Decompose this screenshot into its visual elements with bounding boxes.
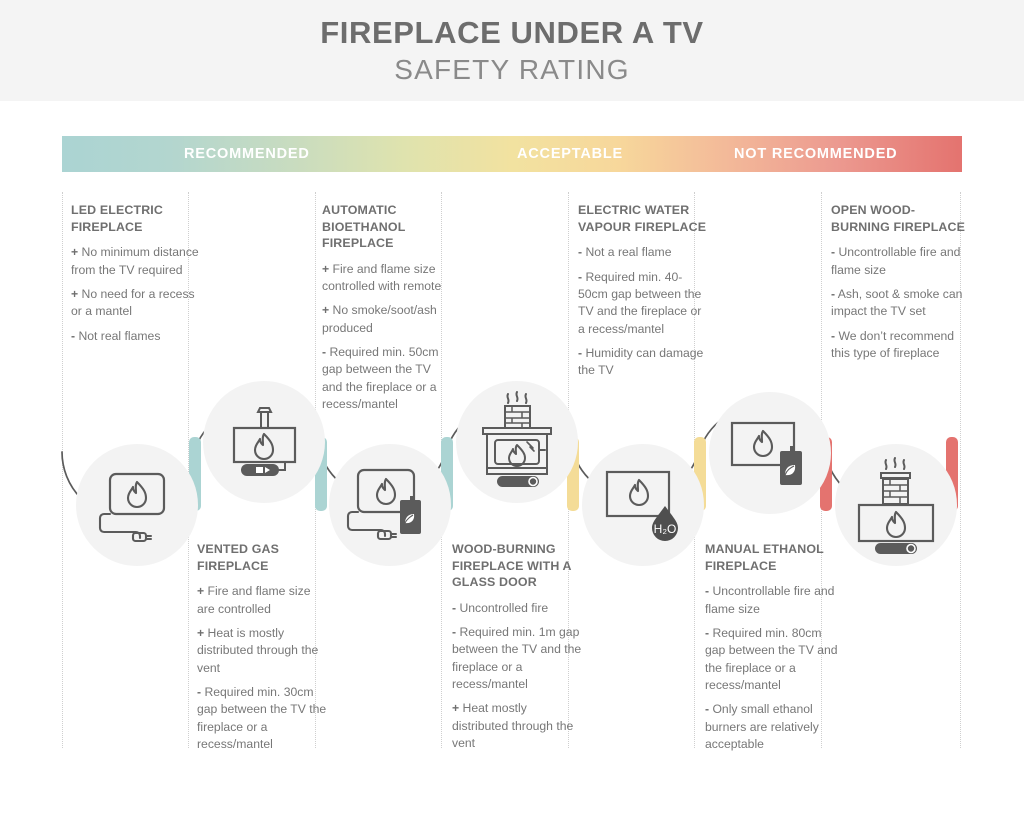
stove-chimney-glassdoor-log-icon: [467, 390, 567, 494]
info-block-electric-water-vapour-fireplace: ELECTRIC WATER VAPOUR FIREPLACE - Not a …: [578, 202, 710, 387]
info-block-open-wood-burning-fireplace: OPEN WOOD-BURNING FIREPLACE - Uncontroll…: [831, 202, 971, 369]
bullet-point: - We don’t recommend this type of firepl…: [831, 328, 971, 363]
bullet-text: No need for a recess or a mantel: [71, 287, 195, 318]
bullet-point: - Uncontrolled fire: [452, 600, 584, 617]
bullet-text: Required min. 50cm gap between the TV an…: [322, 345, 439, 411]
bullet-text: No minimum distance from the TV required: [71, 245, 199, 276]
bullet-text: Ash, soot & smoke can impact the TV set: [831, 287, 962, 318]
bullet-text: Uncontrollable fire and flame size: [705, 584, 834, 615]
bullet-text: Fire and flame size are controlled: [197, 584, 310, 615]
bullet-point: + No smoke/soot/ash produced: [322, 302, 454, 337]
bullet-text: No smoke/soot/ash produced: [322, 303, 437, 334]
bullet-text: Heat is mostly distributed through the v…: [197, 626, 318, 675]
bullet-point: - Required min. 30cm gap between the TV …: [197, 684, 329, 753]
bullet-point: - Humidity can damage the TV: [578, 345, 710, 380]
bullet-symbol: -: [322, 345, 326, 359]
bullet-point: + Heat mostly distributed through the ve…: [452, 700, 584, 752]
bullet-point: - Not a real flame: [578, 244, 710, 261]
bullet-symbol: +: [322, 262, 329, 276]
block-title: ELECTRIC WATER VAPOUR FIREPLACE: [578, 202, 710, 235]
bullet-point: - Ash, soot & smoke can impact the TV se…: [831, 286, 971, 321]
block-title: VENTED GAS FIREPLACE: [197, 541, 329, 574]
icon-circle-led-electric-fireplace[interactable]: [76, 444, 198, 566]
bullet-point: - Required min. 80cm gap between the TV …: [705, 625, 845, 694]
icon-circle-wood-burning-fireplace-glass-door[interactable]: [456, 381, 578, 503]
bullet-point: + Heat is mostly distributed through the…: [197, 625, 329, 677]
tv-flame-plug-canister-icon: [342, 464, 438, 546]
bullet-text: Required min. 30cm gap between the TV th…: [197, 685, 326, 751]
bullet-text: Uncontrolled fire: [459, 601, 548, 615]
bullet-text: Not a real flame: [585, 245, 671, 259]
bullet-symbol: -: [831, 329, 835, 343]
bullet-symbol: -: [705, 584, 709, 598]
info-block-led-electric-fireplace: LED ELECTRIC FIREPLACE + No minimum dist…: [71, 202, 203, 352]
bullet-text: Fire and flame size controlled with remo…: [322, 262, 441, 293]
icon-circle-vented-gas-fireplace[interactable]: [203, 381, 325, 503]
bullet-text: Only small ethanol burners are relativel…: [705, 702, 819, 751]
block-title: MANUAL ETHANOL FIREPLACE: [705, 541, 845, 574]
bullet-symbol: -: [71, 329, 75, 343]
water-droplet-label: H₂O: [654, 522, 677, 536]
bullet-point: - Required min. 40-50cm gap between the …: [578, 269, 710, 338]
bullet-point: - Only small ethanol burners are relativ…: [705, 701, 845, 753]
open-fireplace-brick-chimney-log-icon: [850, 456, 942, 554]
block-title: OPEN WOOD-BURNING FIREPLACE: [831, 202, 971, 235]
screen-flame-water-droplet-icon: H₂O: [597, 462, 689, 548]
bullet-point: - Required min. 50cm gap between the TV …: [322, 344, 454, 413]
bullet-symbol: +: [197, 626, 204, 640]
info-block-manual-ethanol-fireplace: MANUAL ETHANOL FIREPLACE - Uncontrollabl…: [705, 541, 845, 760]
bullet-symbol: -: [578, 346, 582, 360]
infographic-page: FIREPLACE UNDER A TV SAFETY RATING RECOM…: [0, 0, 1024, 828]
icon-circle-electric-water-vapour-fireplace[interactable]: H₂O: [582, 444, 704, 566]
bullet-symbol: +: [71, 245, 78, 259]
bullet-symbol: -: [452, 625, 456, 639]
bullet-text: Humidity can damage the TV: [578, 346, 703, 377]
bullet-point: + No need for a recess or a mantel: [71, 286, 203, 321]
icon-circle-automatic-bioethanol-fireplace[interactable]: [329, 444, 451, 566]
bullet-text: Not real flames: [78, 329, 160, 343]
fireplace-flue-gas-cylinder-icon: [216, 394, 312, 490]
bullet-symbol: +: [71, 287, 78, 301]
bullet-symbol: -: [578, 270, 582, 284]
bullet-text: We don’t recommend this type of fireplac…: [831, 329, 954, 360]
bullet-symbol: +: [452, 701, 459, 715]
info-block-vented-gas-fireplace: VENTED GAS FIREPLACE + Fire and flame si…: [197, 541, 329, 760]
bullet-symbol: -: [578, 245, 582, 259]
bullet-symbol: -: [831, 287, 835, 301]
block-title: AUTOMATIC BIOETHANOL FIREPLACE: [322, 202, 454, 252]
info-block-wood-burning-fireplace-glass-door: WOOD-BURNING FIREPLACE WITH A GLASS DOOR…: [452, 541, 584, 759]
bullet-point: - Uncontrollable fire and flame size: [831, 244, 971, 279]
bullet-symbol: -: [705, 702, 709, 716]
bullet-symbol: -: [705, 626, 709, 640]
bullet-text: Required min. 40-50cm gap between the TV…: [578, 270, 701, 336]
bullet-symbol: +: [197, 584, 204, 598]
bullet-text: Heat mostly distributed through the vent: [452, 701, 573, 750]
bullet-symbol: -: [452, 601, 456, 615]
bullet-point: + Fire and flame size controlled with re…: [322, 261, 454, 296]
bullet-symbol: -: [197, 685, 201, 699]
bullet-point: + Fire and flame size are controlled: [197, 583, 329, 618]
tv-flame-plug-icon: [94, 466, 180, 544]
icon-circle-manual-ethanol-fireplace[interactable]: [709, 392, 831, 514]
bullet-symbol: -: [831, 245, 835, 259]
screen-flame-canister-icon: [723, 413, 817, 493]
bullet-text: Required min. 1m gap between the TV and …: [452, 625, 581, 691]
info-block-automatic-bioethanol-fireplace: AUTOMATIC BIOETHANOL FIREPLACE + Fire an…: [322, 202, 454, 420]
bullet-symbol: +: [322, 303, 329, 317]
bullet-point: + No minimum distance from the TV requir…: [71, 244, 203, 279]
block-title: LED ELECTRIC FIREPLACE: [71, 202, 203, 235]
bullet-text: Uncontrollable fire and flame size: [831, 245, 960, 276]
bullet-point: - Not real flames: [71, 328, 203, 345]
block-title: WOOD-BURNING FIREPLACE WITH A GLASS DOOR: [452, 541, 584, 591]
bullet-point: - Uncontrollable fire and flame size: [705, 583, 845, 618]
bullet-point: - Required min. 1m gap between the TV an…: [452, 624, 584, 693]
bullet-text: Required min. 80cm gap between the TV an…: [705, 626, 838, 692]
icon-circle-open-wood-burning-fireplace[interactable]: [835, 444, 957, 566]
